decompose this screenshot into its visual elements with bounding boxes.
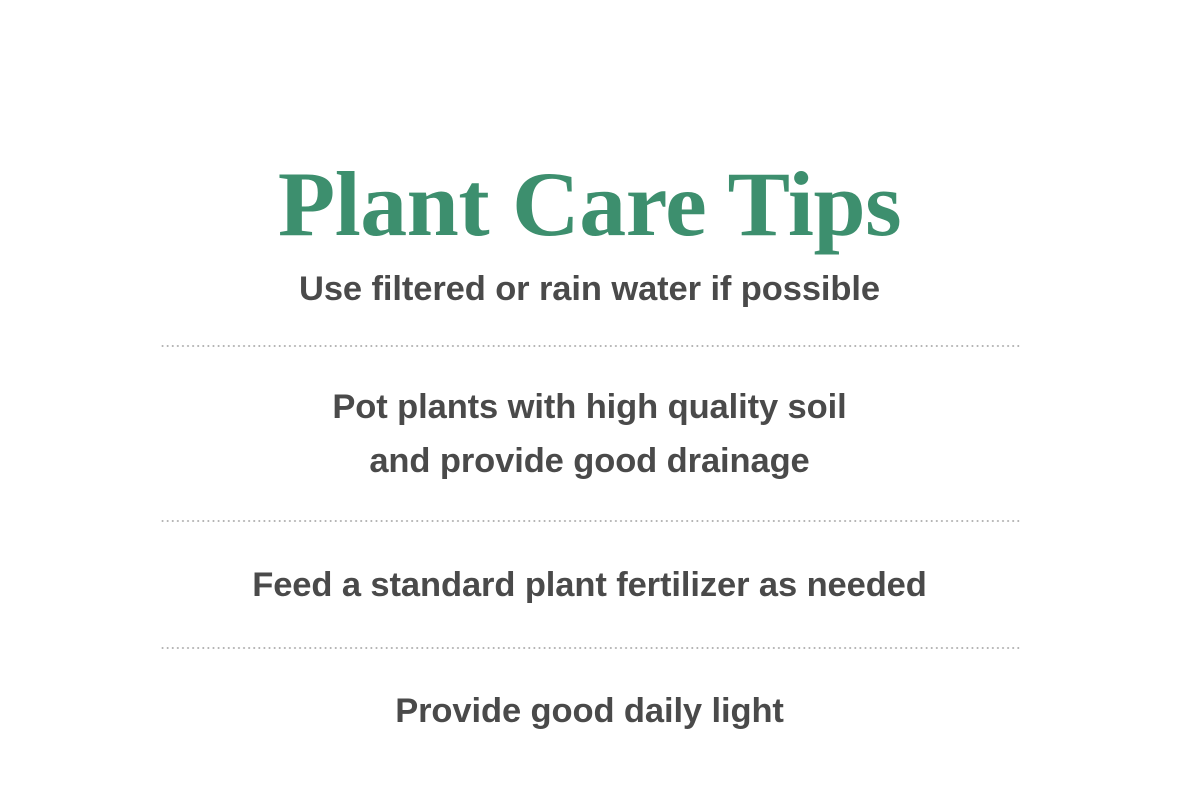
tip-divider-2 xyxy=(160,520,1020,522)
tip-divider-1 xyxy=(160,345,1020,347)
plant-care-tips-infographic: Plant Care Tips Use filtered or rain wat… xyxy=(0,0,1179,786)
tip-item-soil: Pot plants with high quality soil and pr… xyxy=(80,347,1099,520)
tip-item-fertilizer: Feed a standard plant fertilizer as need… xyxy=(80,522,1099,647)
tip-divider-3 xyxy=(160,647,1020,649)
tip-item-light: Provide good daily light xyxy=(80,649,1099,738)
tips-list: Use filtered or rain water if possible P… xyxy=(80,262,1099,738)
page-title: Plant Care Tips xyxy=(278,158,901,250)
tip-item-water: Use filtered or rain water if possible xyxy=(80,262,1099,345)
